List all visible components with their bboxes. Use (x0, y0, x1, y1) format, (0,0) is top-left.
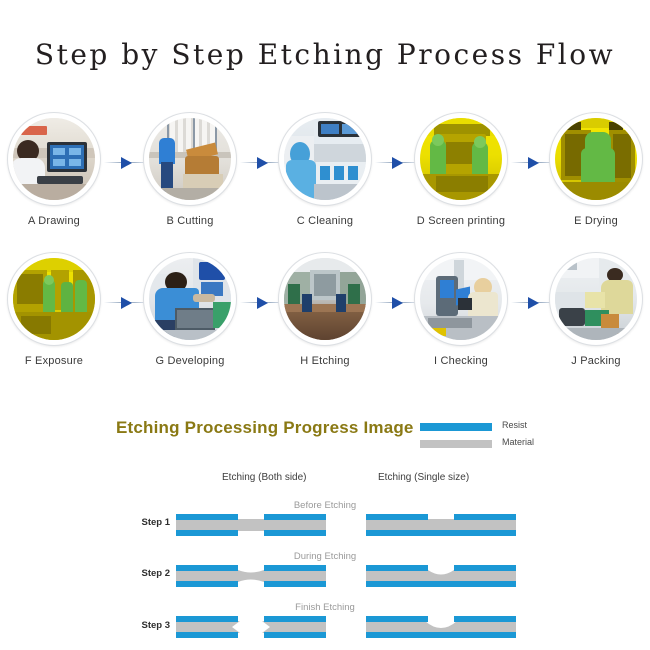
column-header-single-side: Etching (Single size) (378, 472, 469, 483)
etching-diagram-step-2 (176, 560, 516, 594)
step-caption: G Developing (142, 355, 238, 367)
photo-developing-station (149, 258, 231, 340)
process-step-b[interactable]: B Cutting (142, 112, 238, 227)
step-caption: F Exposure (6, 355, 102, 367)
step-photo-ring (414, 112, 508, 206)
process-flow-row-2: F Exposure (0, 252, 650, 382)
process-step-f[interactable]: F Exposure (6, 252, 102, 367)
legend-swatch-resist (420, 423, 492, 431)
photo-yellow-room-exposure (13, 258, 95, 340)
step-caption: J Packing (548, 355, 644, 367)
photo-cutting-machine (149, 118, 231, 200)
photo-inspection-cmm (420, 258, 502, 340)
step-photo-ring (143, 252, 237, 346)
photo-cleaning-line (284, 118, 366, 200)
step-caption: E Drying (548, 215, 644, 227)
etching-process-infographic: Step by Step Etching Process Flow (0, 0, 650, 650)
page-title: Step by Step Etching Process Flow (0, 38, 650, 71)
step-caption: C Cleaning (277, 215, 373, 227)
diagram-step-label-1: Step 1 (118, 517, 170, 528)
diagram-step-label-2: Step 2 (118, 568, 170, 579)
legend-item-resist: Resist (420, 420, 570, 434)
step-caption: I Checking (413, 355, 509, 367)
step-photo-ring (143, 112, 237, 206)
process-step-j[interactable]: J Packing (548, 252, 644, 367)
step-caption: A Drawing (6, 215, 102, 227)
etching-diagram-step-1 (176, 509, 516, 543)
diagram-step-label-3: Step 3 (118, 620, 170, 631)
section-heading: Etching Processing Progress Image (116, 418, 414, 438)
process-step-e[interactable]: E Drying (548, 112, 644, 227)
step-photo-ring (7, 112, 101, 206)
etching-diagram-step-3 (176, 611, 516, 645)
legend-item-material: Material (420, 437, 570, 451)
step-photo-ring (549, 252, 643, 346)
process-step-g[interactable]: G Developing (142, 252, 238, 367)
process-step-c[interactable]: C Cleaning (277, 112, 373, 227)
step-photo-ring (278, 112, 372, 206)
step-caption: D Screen printing (413, 215, 509, 227)
process-step-h[interactable]: H Etching (277, 252, 373, 367)
legend-swatch-material (420, 440, 492, 448)
process-step-d[interactable]: D Screen printing (413, 112, 509, 227)
step-photo-ring (278, 252, 372, 346)
photo-etching-line (284, 258, 366, 340)
legend-label-resist: Resist (502, 420, 527, 430)
step-caption: H Etching (277, 355, 373, 367)
process-step-i[interactable]: I Checking (413, 252, 509, 367)
column-header-both-side: Etching (Both side) (222, 472, 307, 483)
process-flow-row-1: A Drawing (0, 112, 650, 242)
legend-label-material: Material (502, 437, 534, 447)
step-photo-ring (7, 252, 101, 346)
photo-yellow-room-printing (420, 118, 502, 200)
step-photo-ring (549, 112, 643, 206)
diagram-legend: Resist Material (420, 420, 570, 451)
photo-yellow-room-oven (555, 118, 637, 200)
step-caption: B Cutting (142, 215, 238, 227)
process-step-a[interactable]: A Drawing (6, 112, 102, 227)
step-photo-ring (414, 252, 508, 346)
photo-office-cad (13, 118, 95, 200)
photo-packing-bench (555, 258, 637, 340)
